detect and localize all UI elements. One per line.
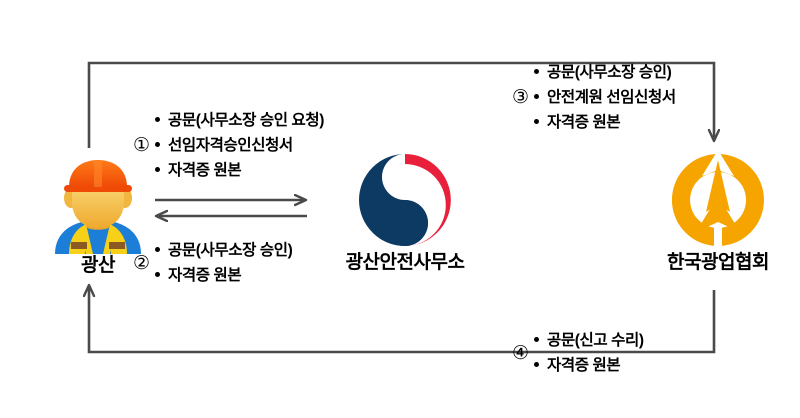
list-item: 자격증 원본 [155,158,324,183]
node-safety-office-label: 광산안전사무소 [346,253,465,272]
node-mining-association-label: 한국광업협회 [667,253,769,272]
list-item: 공문(신고 수리) [534,328,644,353]
list-item: 선임자격승인신청서 [155,133,324,158]
step-2-label: ② 공문(사무소장 승인) 자격증 원본 [133,238,292,288]
list-item: 자격증 원본 [534,353,644,378]
step-3-items: 공문(사무소장 승인) 안전계원 선임신청서 자격증 원본 [534,60,676,135]
step-3-number: ③ [512,88,529,107]
list-item: 공문(사무소장 승인) [155,238,292,263]
list-item: 자격증 원본 [155,263,292,288]
step-1-items: 공문(사무소장 승인 요청) 선임자격승인신청서 자격증 원본 [155,108,324,183]
step-3-label: ③ 공문(사무소장 승인) 안전계원 선임신청서 자격증 원본 [512,60,676,135]
list-item: 공문(사무소장 승인 요청) [155,108,324,133]
step-4-label: ④ 공문(신고 수리) 자격증 원본 [512,328,644,378]
korea-mining-association-icon [663,150,773,250]
korea-government-taegeuk-icon [352,150,458,250]
step-2-items: 공문(사무소장 승인) 자격증 원본 [155,238,292,288]
list-item: 안전계원 선임신청서 [534,85,676,110]
step-1-label: ① 공문(사무소장 승인 요청) 선임자격승인신청서 자격증 원본 [133,108,324,183]
step-4-items: 공문(신고 수리) 자격증 원본 [534,328,644,378]
list-item: 자격증 원본 [534,110,676,135]
step-2-number: ② [133,254,150,273]
list-item: 공문(사무소장 승인) [534,60,676,85]
step-1-number: ① [133,136,150,155]
step-4-number: ④ [512,344,529,363]
node-safety-office: 광산안전사무소 [330,150,480,272]
process-flow-diagram: 광산 광산안전사무소 한국광업협회 ① 공문 [0,0,800,418]
node-mine-label: 광산 [81,256,115,275]
node-mining-association: 한국광업협회 [638,150,798,272]
